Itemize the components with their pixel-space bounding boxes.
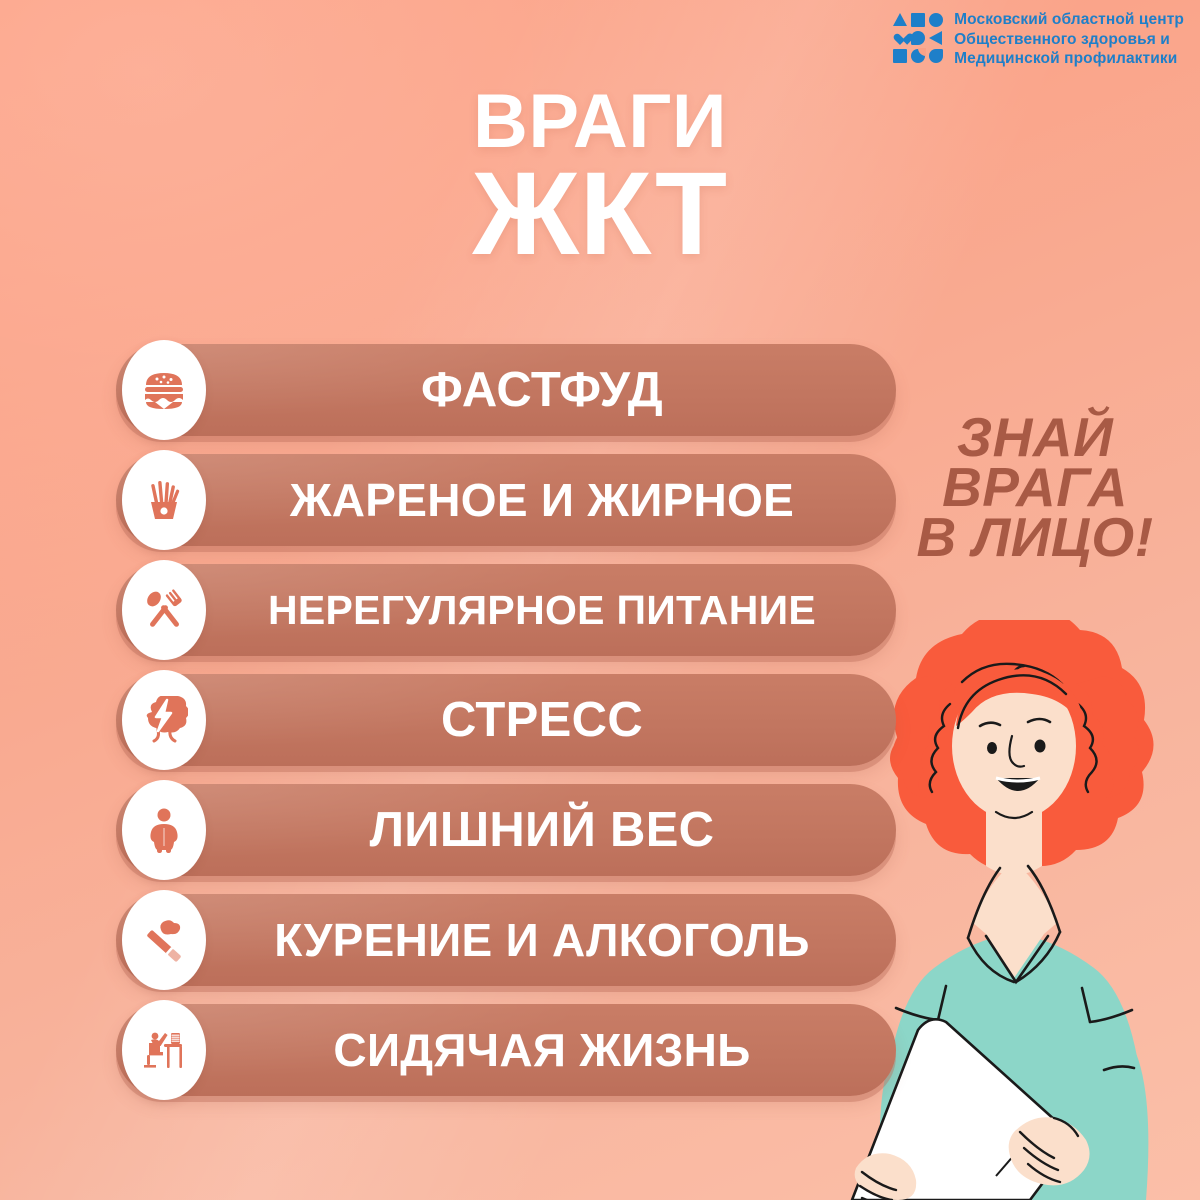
desk-sitting-icon (122, 1000, 206, 1100)
logo-triangle-up-icon (893, 13, 907, 26)
list-item-label: ФАСТФУД (212, 344, 872, 436)
list-item[interactable]: СТРЕСС (116, 674, 896, 766)
list-item-label: КУРЕНИЕ И АЛКОГОЛЬ (212, 894, 872, 986)
list-item-label: СИДЯЧАЯ ЖИЗНЬ (212, 1004, 872, 1096)
moz-shapes-grid-icon (893, 13, 943, 63)
list-item[interactable]: ЖАРЕНОЕ И ЖИРНОЕ (116, 454, 896, 546)
list-item[interactable]: ФАСТФУД (116, 344, 896, 436)
list-item[interactable]: НЕРЕГУЛЯРНОЕ ПИТАНИЕ (116, 564, 896, 656)
brand-name: Московский областной центр Общественного… (954, 10, 1184, 69)
logo-square-icon (911, 13, 925, 27)
cutlery-icon (122, 560, 206, 660)
list-item-label: ЛИШНИЙ ВЕС (212, 784, 872, 876)
burger-icon (122, 340, 206, 440)
brand-logo: Московский областной центр Общественного… (893, 10, 1184, 69)
cigarette-icon (122, 890, 206, 990)
logo-square-2-icon (893, 49, 907, 63)
fries-icon (122, 450, 206, 550)
logo-drop-icon (929, 49, 943, 63)
slogan-text: ЗНАЙ ВРАГА В ЛИЦО! (880, 412, 1190, 562)
logo-pac-icon (911, 49, 925, 63)
doctor-eye-right (1035, 740, 1046, 753)
list-item-label: СТРЕСС (212, 674, 872, 766)
logo-circle-icon (929, 13, 943, 27)
obesity-icon (122, 780, 206, 880)
poster-canvas: Московский областной центр Общественного… (0, 0, 1200, 1200)
title-line-2: ЖКТ (0, 158, 1200, 270)
smoke-puff (160, 920, 180, 934)
enemies-list: ФАСТФУД ЖАРЕНОЕ И ЖИРНОЕ (116, 344, 896, 1114)
logo-heart-icon (893, 31, 907, 45)
brain-bolt-icon (122, 670, 206, 770)
list-item[interactable]: КУРЕНИЕ И АЛКОГОЛЬ (116, 894, 896, 986)
list-item-label: НЕРЕГУЛЯРНОЕ ПИТАНИЕ (212, 564, 872, 656)
logo-triangle-left-icon (929, 31, 942, 45)
doctor-eye-left (987, 742, 997, 754)
list-item[interactable]: ЛИШНИЙ ВЕС (116, 784, 896, 876)
list-item-label: ЖАРЕНОЕ И ЖИРНОЕ (212, 454, 872, 546)
page-title: ВРАГИ ЖКТ (0, 86, 1200, 270)
list-item[interactable]: СИДЯЧАЯ ЖИЗНЬ (116, 1004, 896, 1096)
